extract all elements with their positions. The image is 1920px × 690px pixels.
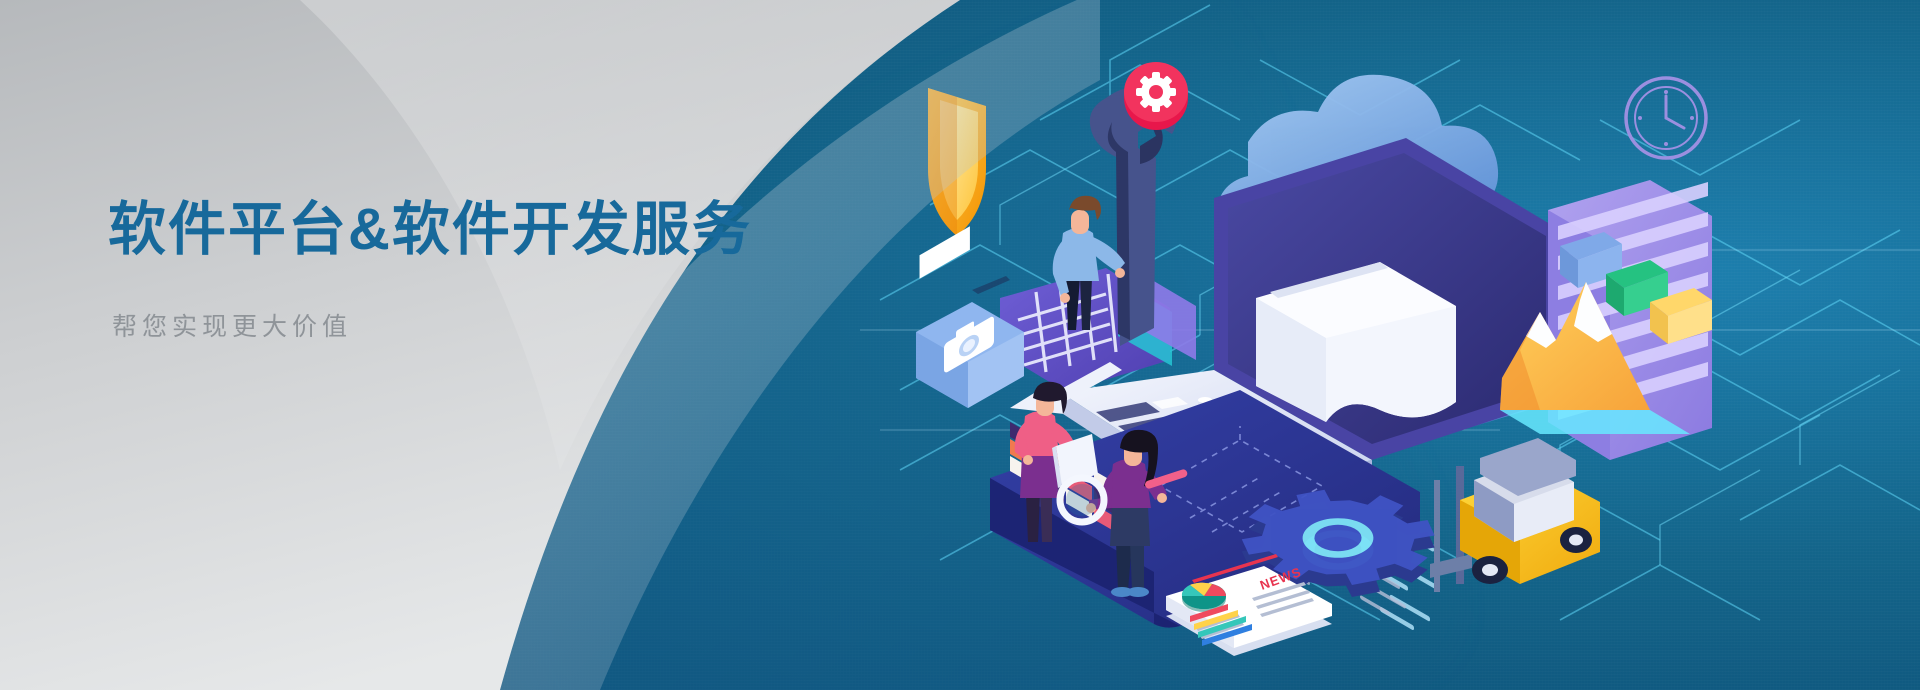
gear-badge-icon — [1124, 62, 1188, 130]
hero-banner: NEWS — [0, 0, 1920, 690]
banner-copy: 软件平台&软件开发服务 帮您实现更大价值 — [108, 196, 868, 343]
forklift-icon — [1430, 438, 1600, 592]
page-subtitle: 帮您实现更大价值 — [112, 307, 868, 343]
page-title: 软件平台&软件开发服务 — [108, 196, 868, 263]
clock-icon — [1626, 78, 1706, 158]
grey-curve-panel — [0, 0, 1100, 690]
